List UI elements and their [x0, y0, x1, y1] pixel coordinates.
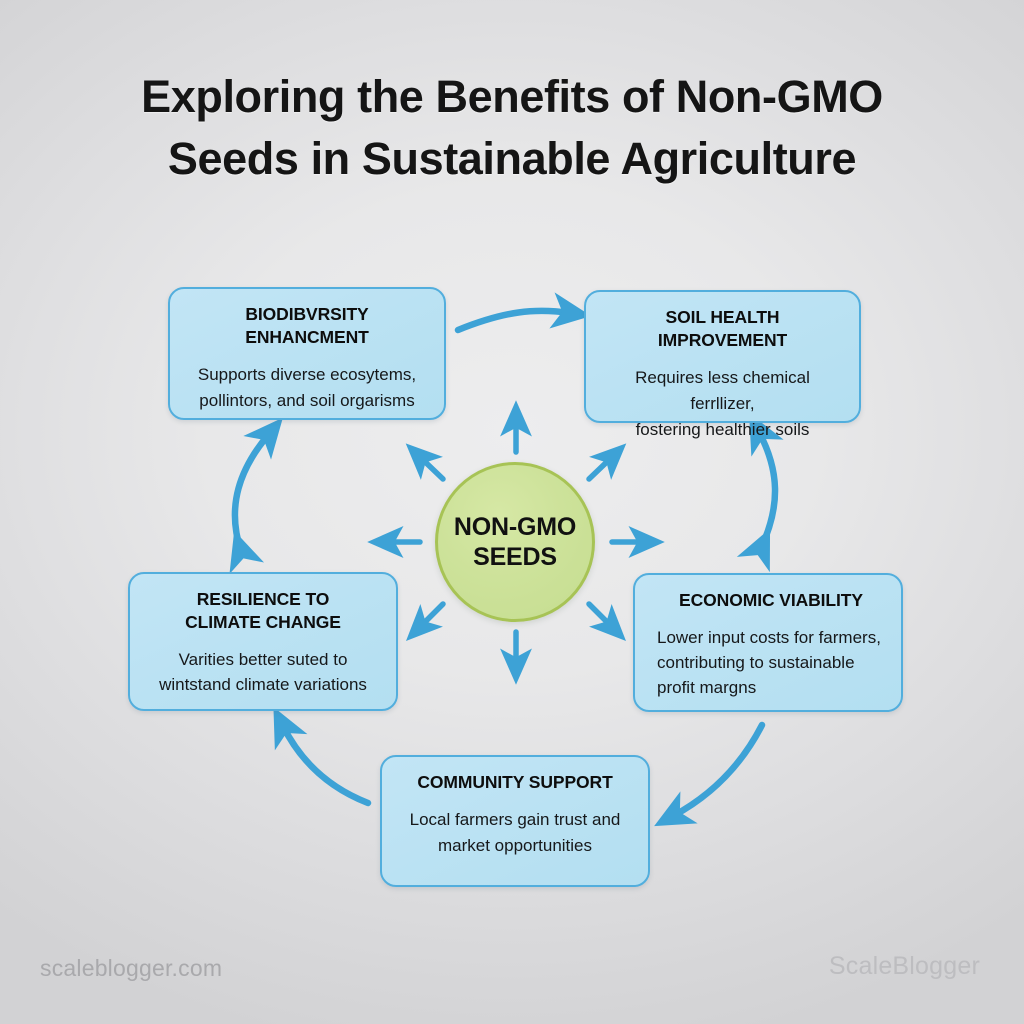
node-community-body-line-2: market opportunities: [398, 833, 632, 859]
node-resilience-title-line-2: CLIMATE CHANGE: [146, 611, 380, 634]
node-community-body-line-1: Local farmers gain trust and: [398, 807, 632, 833]
footer-watermark: ScaleBlogger: [829, 952, 980, 981]
center-node-label-line-2: SEEDS: [454, 542, 576, 572]
node-economic-body-line-3: profit margns: [657, 675, 885, 700]
node-biodiversity-body: Supports diverse ecosytems, pollintors, …: [186, 362, 428, 414]
node-resilience-title-line-1: RESILIENCE TO: [146, 588, 380, 611]
node-resilience-body: Varities better suted to wintstand clima…: [146, 647, 380, 697]
arrow-economic-to-community: [673, 725, 762, 816]
node-biodiversity-title: BIODIBVRSITY ENHANCMENT: [186, 303, 428, 349]
radiate-arrow-up-right: [589, 457, 612, 479]
node-economic-body-line-1: Lower input costs for farmers,: [657, 625, 885, 650]
node-economic-body: Lower input costs for farmers, contribut…: [657, 625, 885, 700]
node-economic-viability[interactable]: ECONOMIC VIABILITY Lower input costs for…: [633, 573, 903, 712]
node-soil-body-line-1: Requires less chemical ferrllizer,: [602, 365, 843, 417]
center-node-label: NON-GMO SEEDS: [454, 512, 576, 572]
footer-site-url: scaleblogger.com: [40, 955, 222, 982]
node-soil-body-line-2: fostering healthier soils: [602, 417, 843, 443]
node-economic-body-line-2: contributing to sustainable: [657, 650, 885, 675]
arrow-soil-economic-double: [759, 432, 775, 548]
node-biodiversity-body-line-2: pollintors, and soil orgarisms: [186, 388, 428, 414]
arrow-biodiversity-to-soil: [458, 311, 570, 330]
node-resilience-to-climate-change[interactable]: RESILIENCE TO CLIMATE CHANGE Varities be…: [128, 572, 398, 711]
node-community-support[interactable]: COMMUNITY SUPPORT Local farmers gain tru…: [380, 755, 650, 887]
radiate-arrow-up-left: [420, 457, 443, 479]
node-biodiversity-enhancement[interactable]: BIODIBVRSITY ENHANCMENT Supports diverse…: [168, 287, 446, 420]
node-community-title: COMMUNITY SUPPORT: [398, 771, 632, 794]
node-resilience-body-line-2: wintstand climate variations: [146, 672, 380, 697]
arrow-biodiversity-resilience-double: [235, 434, 269, 551]
center-node-label-line-1: NON-GMO: [454, 512, 576, 542]
node-biodiversity-body-line-1: Supports diverse ecosytems,: [186, 362, 428, 388]
node-community-body: Local farmers gain trust and market oppo…: [398, 807, 632, 859]
center-node-non-gmo-seeds[interactable]: NON-GMO SEEDS: [435, 462, 595, 622]
node-resilience-title: RESILIENCE TO CLIMATE CHANGE: [146, 588, 380, 634]
node-soil-health-improvement[interactable]: SOIL HEALTH IMPROVEMENT Requires less ch…: [584, 290, 861, 423]
radiate-arrow-down-right: [589, 604, 612, 627]
node-soil-title: SOIL HEALTH IMPROVEMENT: [602, 306, 843, 352]
infographic-canvas: Exploring the Benefits of Non-GMO Seeds …: [0, 0, 1024, 1024]
node-soil-body: Requires less chemical ferrllizer, foste…: [602, 365, 843, 443]
node-resilience-body-line-1: Varities better suted to: [146, 647, 380, 672]
node-economic-title: ECONOMIC VIABILITY: [657, 589, 885, 612]
radiate-arrow-down-left: [420, 604, 443, 627]
arrow-community-to-resilience: [283, 726, 368, 803]
